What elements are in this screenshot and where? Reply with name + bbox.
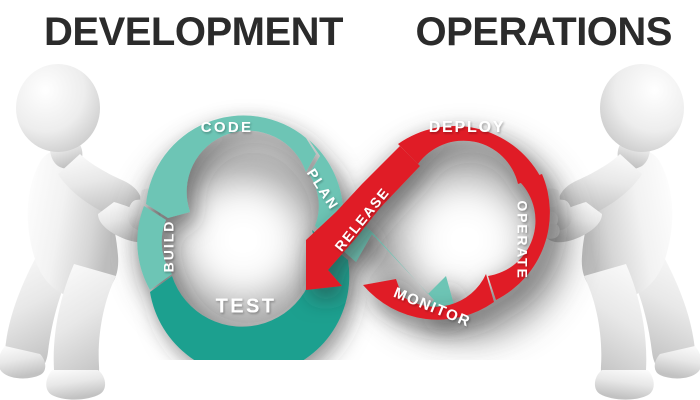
segment-label-build: BUILD <box>161 220 177 273</box>
segment-label-code: CODE <box>201 119 254 136</box>
segment-label-deploy: DEPLOY <box>429 119 506 136</box>
heading-development: DEVELOPMENT <box>44 12 343 52</box>
devops-infinity-loop: CODE BUILD PLAN TEST RELEASE DEPLOY OPER… <box>110 80 600 360</box>
segment-label-operate: OPERATE <box>514 200 530 279</box>
devops-infographic: DEVELOPMENT OPERATIONS <box>0 0 700 400</box>
segment-label-test: TEST <box>216 295 277 317</box>
heading-operations: OPERATIONS <box>415 12 672 52</box>
